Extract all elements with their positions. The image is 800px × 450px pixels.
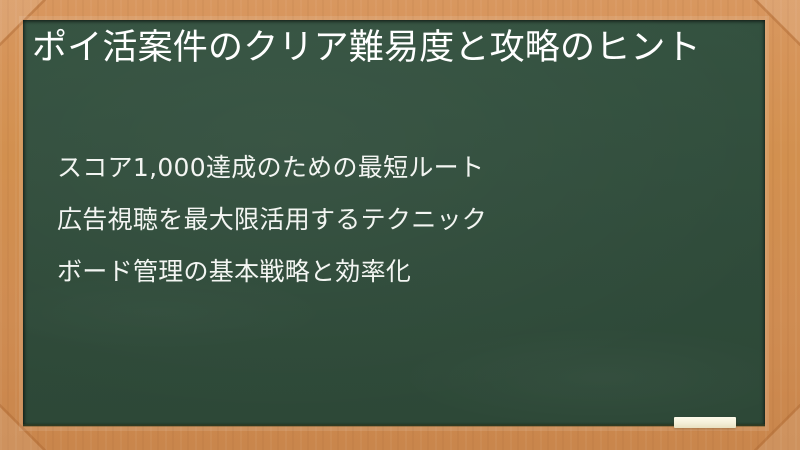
bullet-item: 広告視聴を最大限活用するテクニック [57,207,747,232]
bullet-item: ボード管理の基本戦略と効率化 [57,259,747,284]
slide-title: ポイ活案件のクリア難易度と攻略のヒント [32,27,752,70]
bullet-list: スコア1,000達成のための最短ルート 広告視聴を最大限活用するテクニック ボー… [57,155,747,284]
chalk-stick-icon [674,417,736,428]
blackboard-slide: ポイ活案件のクリア難易度と攻略のヒント スコア1,000達成のための最短ルート … [0,0,800,450]
bullet-item: スコア1,000達成のための最短ルート [57,155,747,180]
board-ledge-shadow [23,424,765,427]
